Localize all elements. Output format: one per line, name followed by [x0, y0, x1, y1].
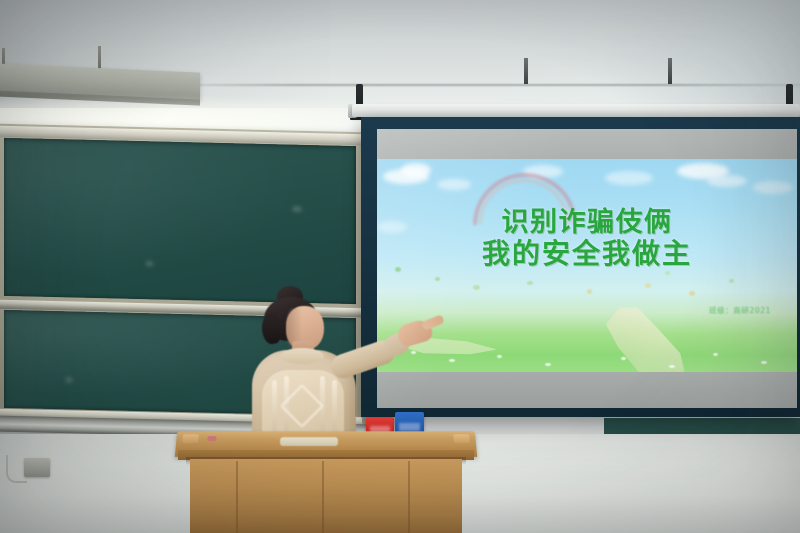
ceiling-hook	[524, 58, 528, 84]
lectern-panel-seam	[236, 461, 238, 533]
presentation-slide: 识别诈骗伎俩 我的安全我做主 班级：高研2021	[377, 159, 797, 372]
lectern-corner-left	[182, 434, 199, 443]
chalkboard-panel-upper	[4, 138, 356, 304]
slide-credit: 班级：高研2021	[709, 305, 771, 316]
slide-title-line2: 我的安全我做主	[377, 238, 797, 269]
slide-title-line1: 识别诈骗伎俩	[502, 207, 673, 238]
screen-blank-bottom	[377, 372, 797, 408]
lectern-corner-right	[453, 434, 470, 443]
lectern	[176, 431, 476, 533]
lectern-front-panel	[190, 459, 462, 533]
paper-sheet[interactable]	[280, 437, 338, 446]
lectern-panel-seam	[322, 461, 324, 533]
projection-screen[interactable]: 识别诈骗伎俩 我的安全我做主 班级：高研2021	[361, 117, 800, 417]
meadow-path	[565, 307, 685, 372]
screen-blank-top	[377, 129, 797, 159]
projection-screen-surface: 识别诈骗伎俩 我的安全我做主 班级：高研2021	[377, 129, 797, 408]
ceiling-hook	[668, 58, 672, 84]
classroom-photo: 识别诈骗伎俩 我的安全我做主 班级：高研2021	[0, 0, 800, 533]
ceiling-seam	[150, 84, 800, 86]
screen-roller-housing	[352, 104, 800, 117]
wall-socket	[24, 458, 50, 477]
sweater-collar	[280, 348, 324, 364]
lectern-panel-seam	[408, 461, 410, 533]
slide-title: 识别诈骗伎俩 我的安全我做主	[377, 207, 797, 269]
chalk-stub[interactable]	[207, 436, 216, 441]
ceiling-shadow-right	[470, 0, 800, 118]
